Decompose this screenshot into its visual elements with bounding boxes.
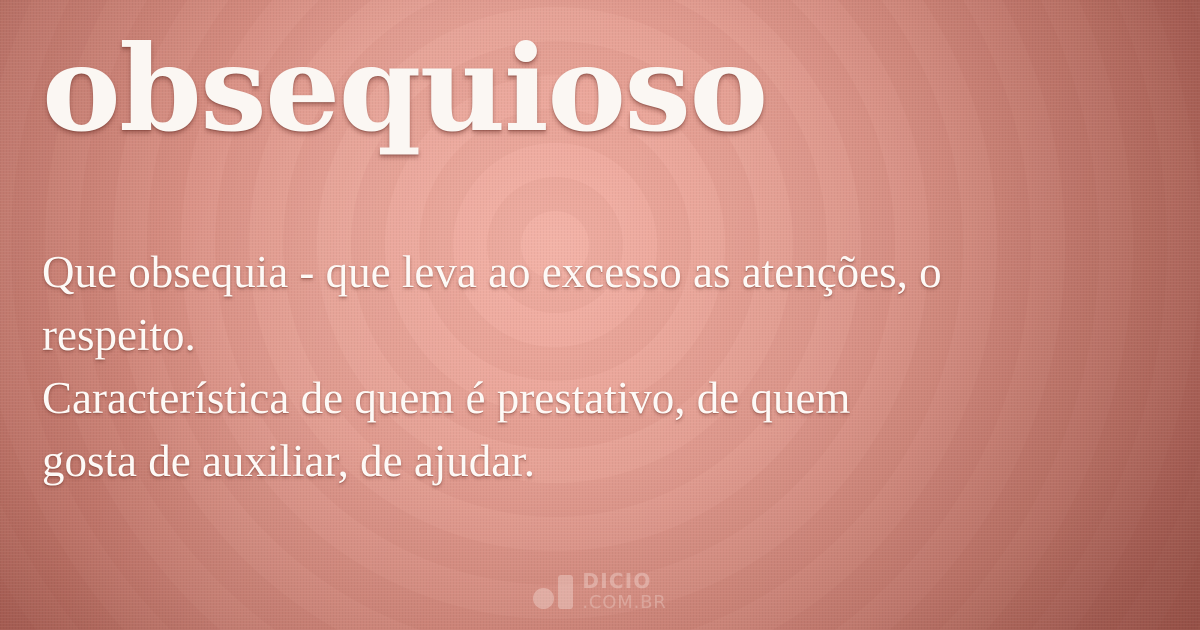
definition-line: respeito. xyxy=(42,304,1162,367)
dicio-word-card: obsequioso Que obsequia - que leva ao ex… xyxy=(0,0,1200,630)
page-title: obsequioso xyxy=(42,30,767,148)
card-content: obsequioso Que obsequia - que leva ao ex… xyxy=(0,0,1200,630)
definition-line: Que obsequia - que leva ao excesso as at… xyxy=(42,241,1162,304)
logo-mark-icon xyxy=(533,575,573,609)
definition-block: Que obsequia - que leva ao excesso as at… xyxy=(42,241,1162,493)
logo-circle-icon xyxy=(533,588,554,609)
logo-bar-icon xyxy=(558,575,573,609)
dicio-logo: DICIO .COM.BR xyxy=(0,571,1200,612)
definition-line: gosta de auxiliar, de ajudar. xyxy=(42,430,1162,493)
definition-line: Característica de quem é prestativo, de … xyxy=(42,367,1162,430)
logo-brand-tld: .COM.BR xyxy=(582,594,666,612)
logo-brand-name: DICIO xyxy=(582,571,666,591)
logo-wordmark: DICIO .COM.BR xyxy=(582,571,666,612)
